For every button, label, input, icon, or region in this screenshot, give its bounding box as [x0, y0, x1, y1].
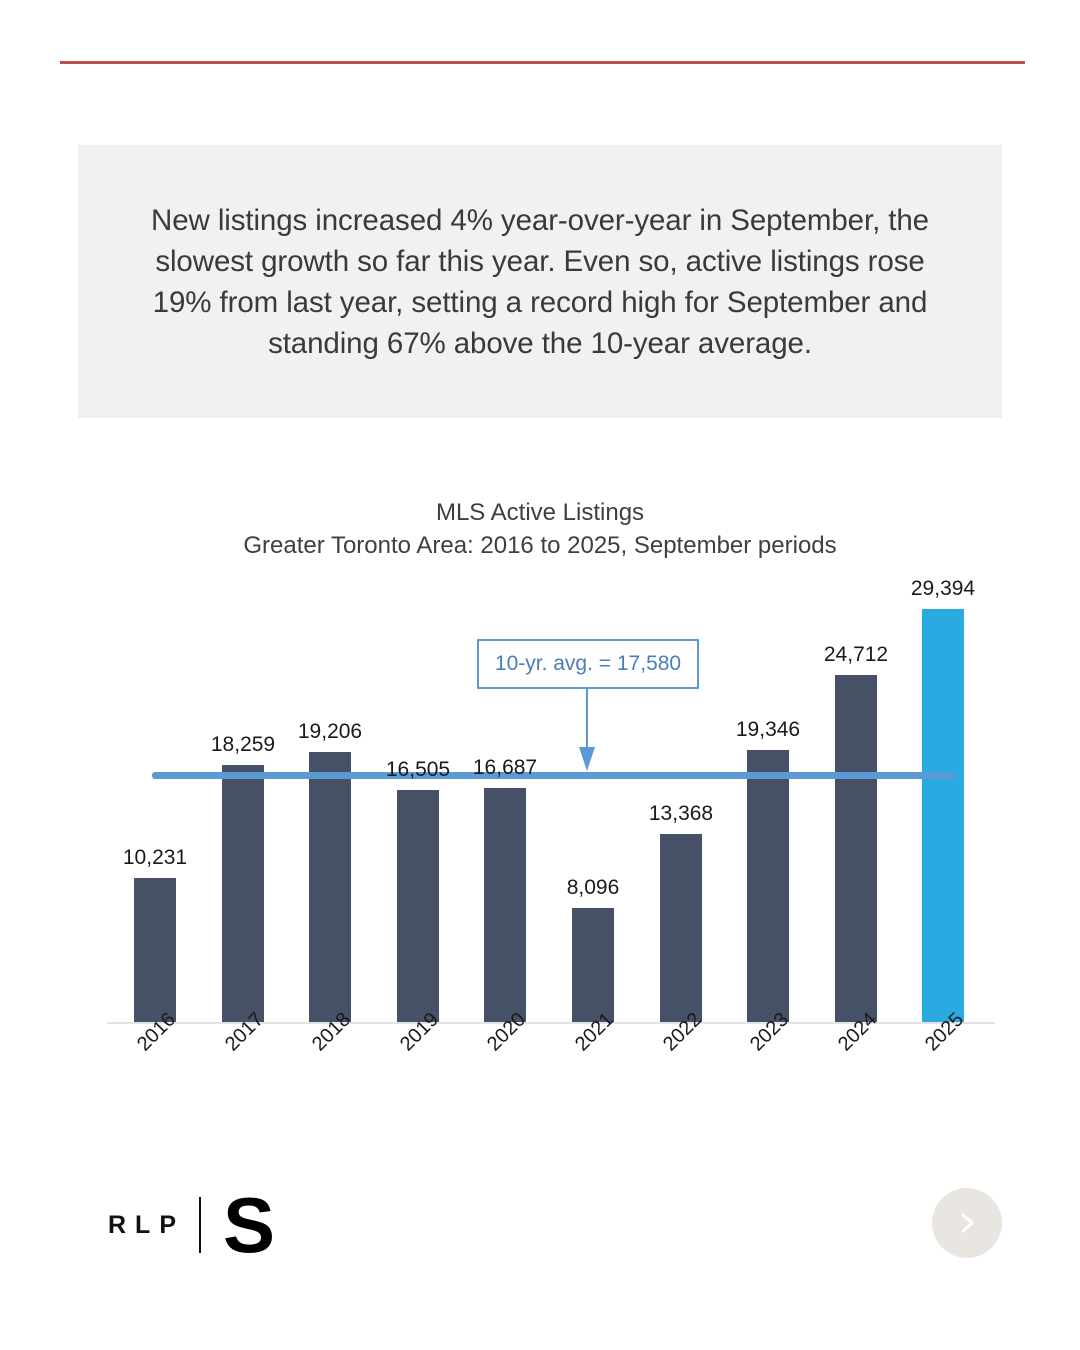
bar-2020 — [484, 788, 526, 1022]
bar-2019 — [397, 790, 439, 1022]
x-tick-2024: 2024 — [834, 1009, 882, 1057]
callout-text: New listings increased 4% year-over-year… — [135, 200, 945, 364]
bar-2023 — [747, 750, 789, 1022]
x-tick-2020: 2020 — [483, 1009, 531, 1057]
bar-value-label-2018: 19,206 — [270, 720, 390, 744]
average-annotation-label: 10-yr. avg. = 17,580 — [495, 652, 681, 676]
bar-value-label-2022: 13,368 — [621, 802, 741, 826]
x-tick-2021: 2021 — [571, 1009, 619, 1057]
logo-divider — [199, 1197, 201, 1253]
next-slide-button[interactable] — [932, 1188, 1002, 1258]
bar-value-label-2021: 8,096 — [533, 876, 653, 900]
x-tick-2018: 2018 — [308, 1009, 356, 1057]
bar-value-label-2020: 16,687 — [445, 756, 565, 780]
chevron-right-icon — [952, 1208, 982, 1238]
brand-logo: RLP S — [108, 1185, 275, 1265]
bar-2021 — [572, 908, 614, 1022]
x-tick-2023: 2023 — [746, 1009, 794, 1057]
average-reference-line — [152, 772, 955, 779]
bar-value-label-2025: 29,394 — [883, 577, 1003, 601]
bar-value-label-2023: 19,346 — [708, 718, 828, 742]
bar-2022 — [660, 834, 702, 1022]
logo-s-text: S — [223, 1195, 275, 1255]
bar-value-label-2016: 10,231 — [95, 846, 215, 870]
average-arrow-icon — [578, 685, 596, 775]
x-axis-line — [107, 1022, 995, 1024]
bar-value-label-2024: 24,712 — [796, 643, 916, 667]
x-tick-2017: 2017 — [221, 1009, 269, 1057]
callout-panel: New listings increased 4% year-over-year… — [78, 145, 1002, 418]
bar-2017 — [222, 765, 264, 1022]
bar-2024 — [835, 675, 877, 1022]
average-annotation-box: 10-yr. avg. = 17,580 — [477, 639, 699, 689]
top-divider — [60, 61, 1025, 64]
bar-2025 — [922, 609, 964, 1022]
x-tick-2025: 2025 — [921, 1009, 969, 1057]
x-tick-2022: 2022 — [659, 1009, 707, 1057]
chart-subtitle: Greater Toronto Area: 2016 to 2025, Sept… — [0, 530, 1080, 562]
bar-2016 — [134, 878, 176, 1022]
x-tick-2016: 2016 — [133, 1009, 181, 1057]
x-tick-2019: 2019 — [396, 1009, 444, 1057]
bar-2018 — [309, 752, 351, 1022]
bar-value-label-2019: 16,505 — [358, 758, 478, 782]
logo-rlp-text: RLP — [108, 1211, 185, 1240]
chart-title: MLS Active Listings — [0, 497, 1080, 529]
bar-value-label-2017: 18,259 — [183, 733, 303, 757]
